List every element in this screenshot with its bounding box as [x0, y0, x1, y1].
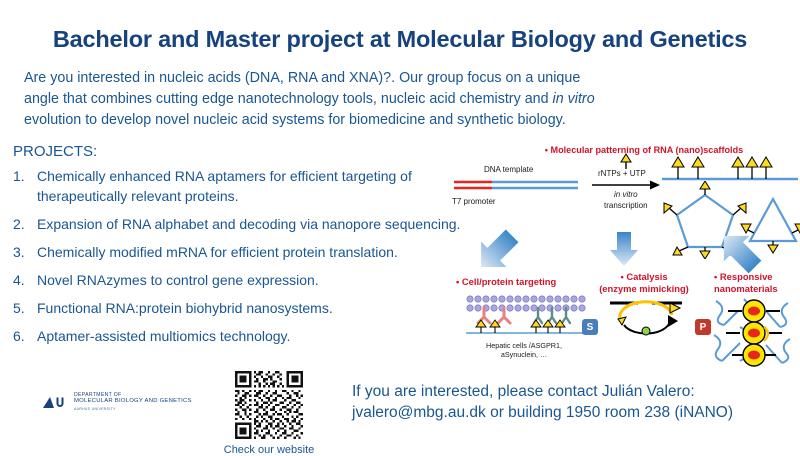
panel-title-responsive-line-2: nanomaterials — [714, 283, 778, 295]
logo-line-2: MOLECULAR BIOLOGY AND GENETICS — [74, 398, 192, 404]
substrate-badge: S — [582, 319, 598, 335]
panel-title-cell-targeting-text: Cell/protein targeting — [462, 276, 556, 287]
aarhus-university-logo-icon — [42, 394, 68, 411]
list-item-number: 4. — [13, 271, 37, 291]
intro-text-part2: evolution to develop novel nucleic acid … — [24, 112, 566, 128]
qr-caption: Check our website — [219, 444, 319, 456]
list-item-label: Chemically enhanced RNA aptamers for eff… — [37, 167, 463, 206]
list-item-number: 5. — [13, 299, 37, 319]
t7-promoter-label: T7 promoter — [452, 197, 496, 206]
ribozyme-catalysis-icon — [604, 297, 690, 339]
panel-title-cell-targeting: • Cell/protein targeting — [456, 276, 556, 288]
panel-title-responsive-line-1: • Responsive — [714, 271, 778, 283]
panel-title-catalysis-text: Catalysis — [626, 271, 667, 282]
list-item-number: 1. — [13, 167, 37, 206]
page-title: Bachelor and Master project at Molecular… — [0, 26, 800, 53]
rna-linear-scaffold-icon — [660, 153, 800, 183]
product-badge: P — [695, 319, 711, 335]
panel-title-responsive-text: Responsive — [720, 271, 773, 282]
qr-code-image[interactable] — [235, 371, 303, 439]
panel-title-catalysis-line-2: (enzyme mimicking) — [598, 283, 690, 295]
list-item: 5. Functional RNA:protein biohybrid nano… — [13, 299, 463, 319]
dna-duplex-icon — [452, 177, 582, 197]
utp-tag-icon — [620, 153, 632, 169]
list-item: 6. Aptamer-assisted multiomics technolog… — [13, 327, 463, 347]
list-item-label: Chemically modified mRNA for efficient p… — [37, 243, 463, 263]
list-item-number: 6. — [13, 327, 37, 347]
panel-caption-cell-targeting: Hepatic cells /ASGPR1, aSynuclein, … — [454, 341, 594, 359]
poster-slide: Bachelor and Master project at Molecular… — [0, 0, 800, 450]
list-item-label: Expansion of RNA alphabet and decoding v… — [37, 215, 463, 235]
department-logo: DEPARTMENT OF MOLECULAR BIOLOGY AND GENE… — [42, 392, 192, 412]
list-item: 4. Novel RNAzymes to control gene expres… — [13, 271, 463, 291]
logo-text: DEPARTMENT OF MOLECULAR BIOLOGY AND GENE… — [74, 392, 192, 412]
intro-text-part1: Are you interested in nucleic acids (DNA… — [24, 70, 580, 107]
panel-title-catalysis: • Catalysis (enzyme mimicking) — [598, 271, 690, 294]
list-item: 3. Chemically modified mRNA for efficien… — [13, 243, 463, 263]
list-item-label: Functional RNA:protein biohybrid nanosys… — [37, 299, 463, 319]
hydrogel-network-icon — [710, 295, 798, 367]
logo-line-3: AARHUS UNIVERSITY — [74, 406, 192, 412]
list-item: 1. Chemically enhanced RNA aptamers for … — [13, 167, 463, 206]
dna-template-label: DNA template — [484, 165, 533, 174]
intro-italic-in-vitro: in vitro — [553, 91, 595, 107]
panel-caption-line-1: Hepatic cells /ASGPR1, — [454, 341, 594, 350]
intro-paragraph: Are you interested in nucleic acids (DNA… — [24, 68, 618, 131]
contact-block: If you are interested, please contact Ju… — [352, 381, 792, 423]
reaction-label: transcription — [604, 201, 648, 210]
list-item-number: 2. — [13, 215, 37, 235]
projects-list: 1. Chemically enhanced RNA aptamers for … — [13, 167, 463, 355]
research-figure: • Molecular patterning of RNA (nano)scaf… — [452, 145, 800, 375]
list-item-number: 3. — [13, 243, 37, 263]
panel-caption-line-2: aSynuclein, … — [454, 350, 594, 359]
list-item-label: Aptamer-assisted multiomics technology. — [37, 327, 463, 347]
reaction-arrow-icon — [592, 179, 660, 193]
projects-heading: PROJECTS: — [13, 143, 97, 160]
reagents-label: rNTPs + UTP — [598, 169, 646, 178]
qr-code-block: Check our website — [219, 371, 319, 456]
list-item: 2. Expansion of RNA alphabet and decodin… — [13, 215, 463, 235]
list-item-label: Novel RNAzymes to control gene expressio… — [37, 271, 463, 291]
panel-title-catalysis-line-1: • Catalysis — [598, 271, 690, 283]
cell-membrane-illustration-icon — [462, 293, 612, 343]
contact-line-2: jvalero@mbg.au.dk or building 1950 room … — [352, 402, 792, 423]
panel-title-responsive: • Responsive nanomaterials — [714, 271, 778, 294]
contact-line-1: If you are interested, please contact Ju… — [352, 381, 792, 402]
